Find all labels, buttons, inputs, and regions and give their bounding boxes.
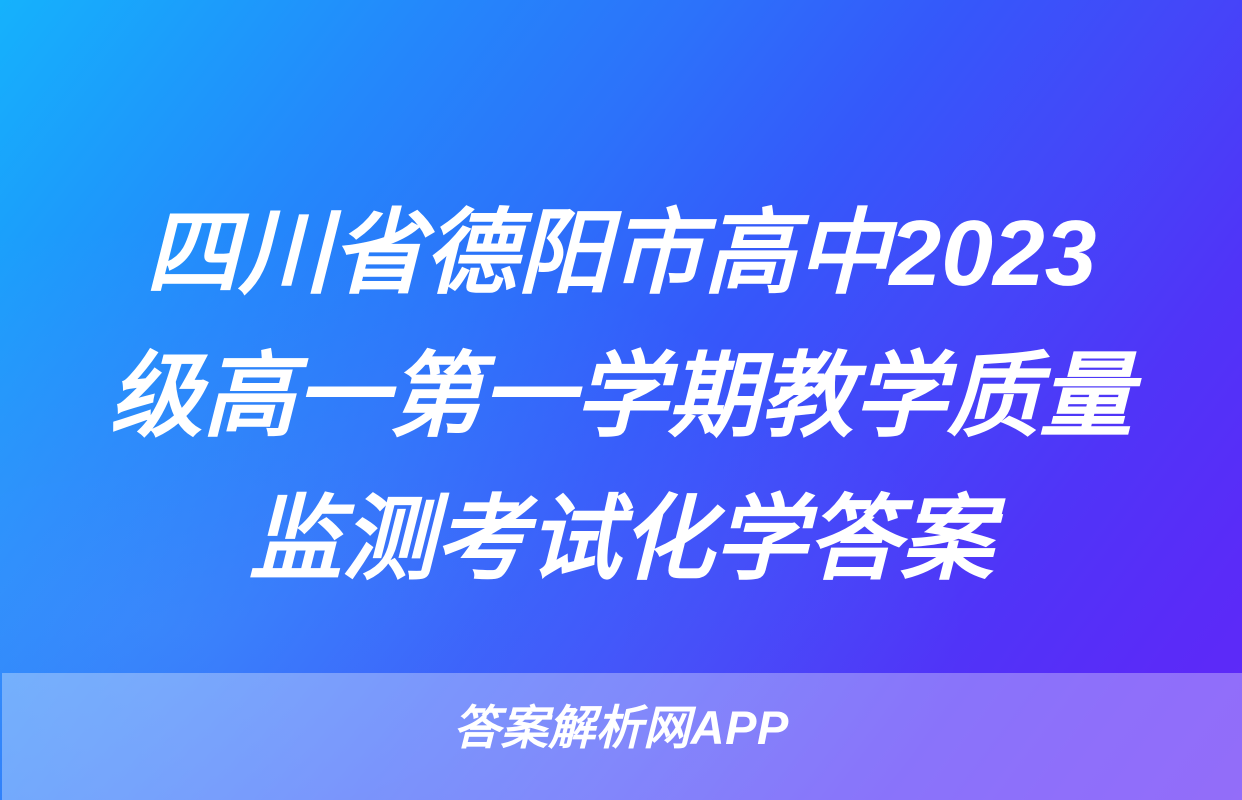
poster-canvas: 四川省德阳市高中2023 级高一第一学期教学质量 监测考试化学答案 答案解析网A… [0, 0, 1242, 800]
title-line-3: 监测考试化学答案 [40, 468, 1202, 611]
watermark-label: 答案解析网APP [0, 698, 1242, 758]
title-line-1: 四川省德阳市高中2023 [40, 182, 1202, 325]
title-line-2: 级高一第一学期教学质量 [40, 325, 1202, 468]
page-title: 四川省德阳市高中2023 级高一第一学期教学质量 监测考试化学答案 [0, 182, 1242, 611]
